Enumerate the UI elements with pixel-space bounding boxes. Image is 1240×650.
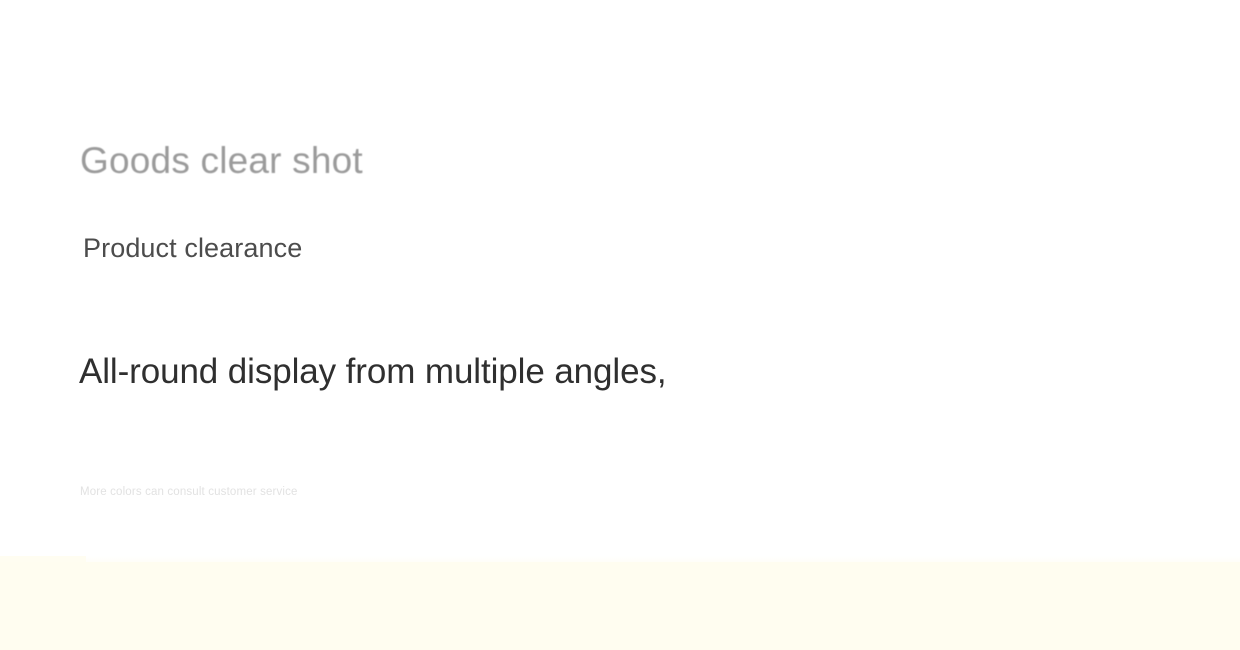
headline: All-round display from multiple angles, — [79, 349, 666, 395]
eyebrow-heading: Goods clear shot — [80, 138, 363, 184]
subheading: Product clearance — [83, 230, 302, 266]
fineprint-note: More colors can consult customer service — [80, 485, 298, 500]
promo-banner: Goods clear shot Product clearance All-r… — [0, 0, 1240, 650]
bottom-color-band — [0, 562, 1240, 650]
